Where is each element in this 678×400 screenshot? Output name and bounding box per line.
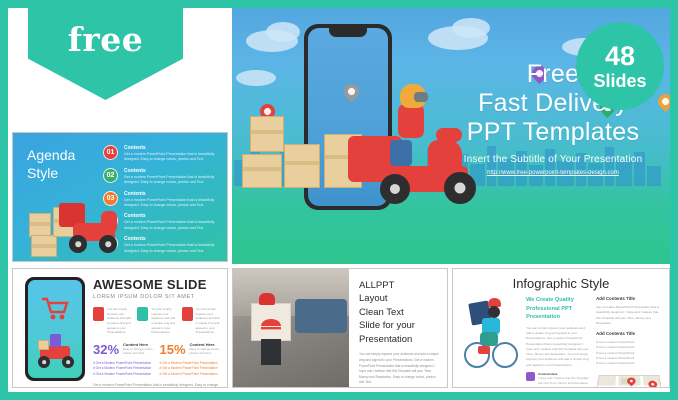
allppt-heading-line: Clean Text xyxy=(359,306,439,319)
hero-subtitle: Insert the Subtitle of Your Presentation xyxy=(448,154,658,165)
infographic-title: Infographic Style xyxy=(453,276,669,291)
infographic-highlight-line: We Create Quality xyxy=(526,296,590,305)
rider-helmet xyxy=(259,293,275,305)
agenda-item-body: Get a modern PowerPoint Presentation tha… xyxy=(124,198,219,209)
agenda-title-line-2: Style xyxy=(27,165,75,183)
feature-text: You can simply impress your audience and… xyxy=(196,307,220,335)
bullet-column-left: # Get a Modern PowerPoint Presentation #… xyxy=(93,361,154,377)
hero-url-link[interactable]: http://www.free-powerpoint-templates-des… xyxy=(448,170,658,176)
agenda-item-body: Get a modern PowerPoint Presentation tha… xyxy=(124,220,219,231)
mini-item-body: I hope and I believe that this Template … xyxy=(538,376,590,386)
shopping-cart-icon xyxy=(40,296,70,327)
agenda-item-heading: Contents xyxy=(124,213,219,219)
stats-row: 32% Content Here Easy to change colors, … xyxy=(93,342,220,357)
allppt-paragraph: You can simply impress your audience and… xyxy=(359,352,439,386)
scooter-wheel xyxy=(444,172,476,204)
right-block-1-body: Get a modern PowerPoint Presentation tha… xyxy=(596,305,662,326)
document-icon xyxy=(137,307,148,321)
infographic-slide[interactable]: Infographic Style We Create Quality Prof… xyxy=(452,268,670,388)
bullet-item: # Get a Modern PowerPoint Presentation xyxy=(160,372,221,377)
scooter-wheel xyxy=(380,174,410,204)
stat-body: Easy to change colors, photos and Text. xyxy=(123,347,153,356)
preview-canvas: free 48 Slides xyxy=(8,8,670,392)
agenda-item-body: Get a modern PowerPoint Presentation tha… xyxy=(124,175,219,186)
bullet-item: # Get a Modern PowerPoint Presentation xyxy=(93,366,154,371)
cloud-icon xyxy=(266,22,300,42)
awesome-slide[interactable]: AWESOME SLIDE LOREM IPSUM DOLOR SIT AMET… xyxy=(12,268,228,388)
agenda-item-number: 02 xyxy=(103,168,118,183)
infographic-highlight-line: Professional PPT xyxy=(526,305,590,314)
agenda-item-body: Get a modern PowerPoint Presentation tha… xyxy=(124,243,219,254)
agenda-scooter-illustration xyxy=(29,193,124,259)
stat-value: 15% xyxy=(160,342,186,357)
parked-car xyxy=(295,299,347,333)
hero-line-3: PPT Templates xyxy=(448,118,658,147)
allppt-heading-line: Slide for your xyxy=(359,319,439,332)
feature-text: You can simply impress your audience and… xyxy=(151,307,175,335)
delivery-backpack xyxy=(251,303,291,341)
slide-count-badge: 48 Slides xyxy=(576,22,664,110)
map-illustration xyxy=(593,375,665,388)
agenda-slide[interactable]: Agenda Style 01 Contents Get a modern Po… xyxy=(12,132,228,262)
stat-item: 32% Content Here Easy to change colors, … xyxy=(93,342,154,357)
bicycle-wheel xyxy=(492,342,518,368)
cloud-icon xyxy=(452,18,490,38)
free-ribbon: free xyxy=(28,8,183,100)
bullet-columns: # Get a Modern PowerPoint Presentation #… xyxy=(93,361,220,377)
awesome-title: AWESOME SLIDE xyxy=(93,277,220,292)
phone-mockup xyxy=(25,277,85,381)
bullet-item: # Get a Modern PowerPoint Presentation xyxy=(93,372,154,377)
feature-text: You can simply impress your audience and… xyxy=(107,307,131,335)
infographic-mini-item[interactable]: Content Here I hope and I believe that t… xyxy=(526,372,590,386)
cyclist-illustration xyxy=(460,296,520,388)
agenda-item-heading: Contents xyxy=(124,191,219,197)
feature-item[interactable]: You can simply impress your audience and… xyxy=(137,307,175,335)
feature-icon-row: You can simply impress your audience and… xyxy=(93,307,220,335)
agenda-item-heading: Contents xyxy=(124,168,219,174)
free-ribbon-label: free xyxy=(68,20,144,59)
feature-item[interactable]: You can simply impress your audience and… xyxy=(182,307,220,335)
feature-item[interactable]: You can simply impress your audience and… xyxy=(93,307,131,335)
agenda-title-line-1: Agenda xyxy=(27,147,75,165)
right-block-1-heading: Add Contents Title xyxy=(596,296,662,301)
bullet-column-right: # Get a Modern PowerPoint Presentation #… xyxy=(160,361,221,377)
infographic-paragraph: You can simply impress your audience and… xyxy=(526,326,590,368)
awesome-footer-text: Get a modern PowerPoint Presentation tha… xyxy=(93,383,220,388)
mobile-icon xyxy=(93,307,104,321)
right-block-2-heading: Add Contents Title xyxy=(596,331,662,336)
agenda-title: Agenda Style xyxy=(27,147,75,182)
allppt-slide[interactable]: ALLPPT Layout Clean Text Slide for your … xyxy=(232,268,448,388)
agenda-item[interactable]: 02 Contents Get a modern PowerPoint Pres… xyxy=(103,168,219,186)
stat-body: Easy to change colors, photos and Text. xyxy=(190,347,220,356)
package-box xyxy=(242,154,282,188)
allppt-heading-line: Layout xyxy=(359,292,439,305)
star-icon xyxy=(526,372,535,381)
slide-count-number: 48 xyxy=(605,43,635,70)
agenda-item-heading: Contents xyxy=(124,145,219,151)
agenda-item[interactable]: 01 Contents Get a modern PowerPoint Pres… xyxy=(103,145,219,163)
stat-value: 32% xyxy=(93,342,119,357)
bullet-item: # Get a Modern PowerPoint Presentation xyxy=(160,366,221,371)
cloud-icon xyxy=(236,70,276,86)
stat-item: 15% Content Here Easy to change colors, … xyxy=(160,342,221,357)
agenda-item-body: Get a modern PowerPoint Presentation tha… xyxy=(124,152,219,163)
awesome-subtitle: LOREM IPSUM DOLOR SIT AMET xyxy=(93,294,220,300)
infographic-highlight-line: Presentation xyxy=(526,313,590,322)
allppt-heading-line: ALLPPT xyxy=(359,279,439,292)
monitor-icon xyxy=(182,307,193,321)
slide-count-unit: Slides xyxy=(593,72,646,90)
allppt-heading-line: Presentation xyxy=(359,333,439,346)
package-box xyxy=(250,116,284,152)
cyclist-photo xyxy=(233,269,349,387)
phone-notch xyxy=(329,28,367,37)
agenda-item-heading: Contents xyxy=(124,236,219,242)
template-preview-page: free 48 Slides xyxy=(0,0,678,400)
package-box xyxy=(284,144,320,188)
agenda-item-number: 01 xyxy=(103,145,118,160)
right-block-2-bullet: # Get a modern PowerPoint xyxy=(596,361,662,366)
